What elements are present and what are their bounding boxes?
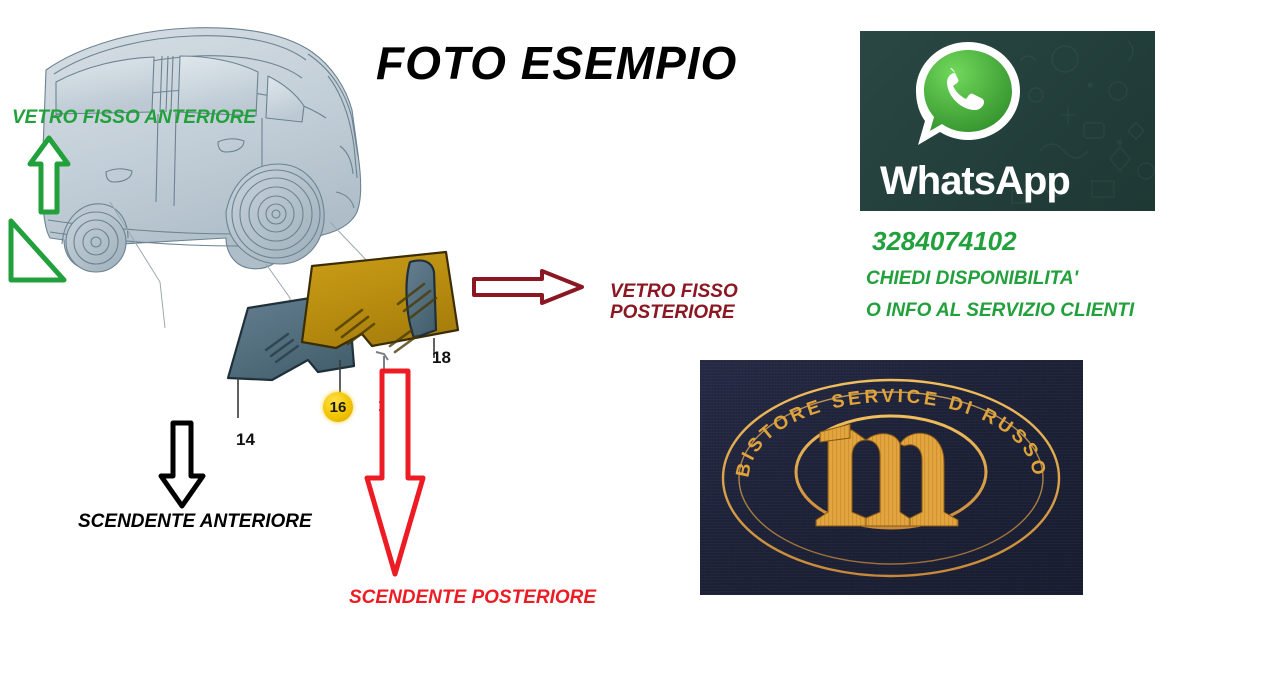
whatsapp-phone-bubble-icon	[912, 39, 1024, 151]
up-arrow-outline-icon	[26, 134, 72, 216]
label-vetro-fisso-posteriore-line1: VETRO FISSO	[610, 281, 738, 302]
availability-line: CHIEDI DISPONIBILITA'	[866, 268, 1078, 290]
label-scendente-anteriore: SCENDENTE ANTERIORE	[78, 511, 312, 532]
phone-number[interactable]: 3284074102	[872, 226, 1017, 257]
svg-text:MRICAMBISTORE SERVICE DI RUSSO: MRICAMBISTORE SERVICE DI RUSSO MARCO	[700, 360, 1050, 480]
page-title: FOTO ESEMPIO	[376, 36, 737, 90]
logo-monogram	[816, 424, 958, 526]
part-number-18: 18	[432, 348, 451, 368]
down-arrow-outline-long-icon	[362, 368, 428, 580]
right-arrow-outline-icon	[470, 268, 586, 308]
part-number-14: 14	[236, 430, 255, 450]
part-16-highlights	[140, 250, 480, 440]
shop-logo-artwork: MRICAMBISTORE SERVICE DI RUSSO MARCO	[700, 360, 1083, 595]
label-vetro-fisso-anteriore: VETRO FISSO ANTERIORE	[12, 107, 256, 128]
label-vetro-fisso-posteriore: VETRO FISSO POSTERIORE	[610, 281, 738, 324]
down-arrow-outline-icon	[156, 420, 208, 510]
shop-logo-photo: MRICAMBISTORE SERVICE DI RUSSO MARCO	[700, 360, 1083, 595]
logo-ring-text: MRICAMBISTORE SERVICE DI RUSSO MARCO	[700, 360, 1050, 480]
label-vetro-fisso-posteriore-line2: POSTERIORE	[610, 302, 738, 323]
right-triangle-outline-icon	[6, 216, 68, 286]
label-scendente-posteriore: SCENDENTE POSTERIORE	[349, 587, 596, 608]
part-number-16-badge: 16	[323, 392, 353, 422]
customer-service-line: O INFO AL SERVIZIO CLIENTI	[866, 300, 1134, 322]
poster-canvas: 14 17 18 16 FOTO ESEMPIO VETRO FISSO ANT…	[0, 0, 1264, 678]
whatsapp-wordmark: WhatsApp	[880, 159, 1070, 204]
whatsapp-banner: WhatsApp	[860, 31, 1155, 211]
